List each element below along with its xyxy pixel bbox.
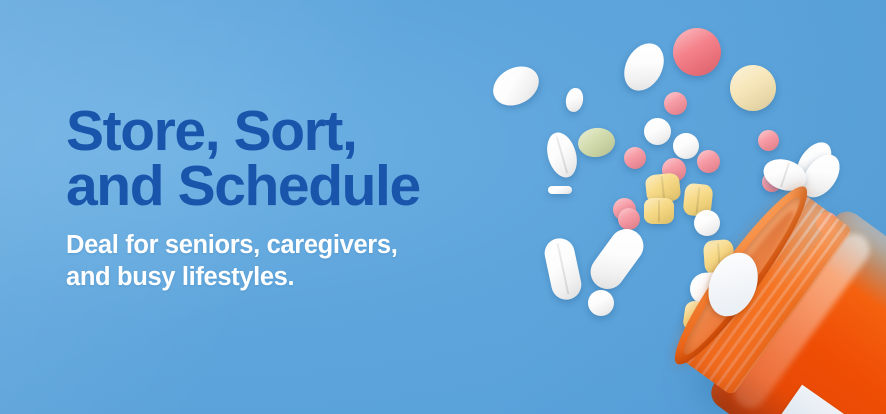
pill-cream-disc-1 bbox=[730, 65, 776, 111]
banner-copy: Store, Sort, and Schedule Deal for senio… bbox=[66, 104, 566, 294]
pill-pink-round-3 bbox=[697, 150, 720, 173]
pill-pink-round-8 bbox=[618, 208, 640, 230]
pill-white-round-3 bbox=[588, 290, 614, 316]
page-title: Store, Sort, and Schedule bbox=[66, 104, 566, 215]
promo-banner: Store, Sort, and Schedule Deal for senio… bbox=[0, 0, 886, 414]
banner-subheading: Deal for seniors, caregivers, and busy l… bbox=[66, 229, 566, 294]
pill-pink-round-6 bbox=[758, 130, 779, 151]
pill-white-round-2 bbox=[673, 133, 699, 159]
pill-pink-round-1 bbox=[664, 92, 687, 115]
pill-salmon-round-1 bbox=[673, 28, 721, 76]
pill-yellow-sq-5 bbox=[644, 198, 674, 224]
pill-pink-round-2 bbox=[624, 147, 646, 169]
pill-white-round-1 bbox=[644, 118, 671, 145]
pill-white-round-4 bbox=[694, 210, 720, 236]
